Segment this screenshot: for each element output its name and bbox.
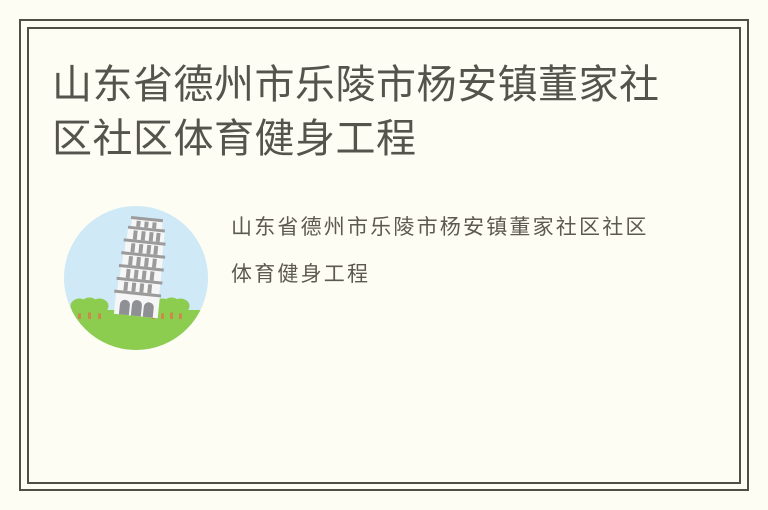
- media-row: 山东省德州市乐陵市杨安镇董家社区社区体育健身工程: [64, 204, 684, 356]
- certificate-card: 山东省德州市乐陵市杨安镇董家社区社区体育健身工程: [0, 0, 768, 510]
- thumbnail-caption: 山东省德州市乐陵市杨安镇董家社区社区体育健身工程: [231, 204, 661, 298]
- leaning-tower-of-pisa-illustration: [64, 206, 208, 350]
- thumbnail-image: [64, 206, 208, 350]
- card-content: 山东省德州市乐陵市杨安镇董家社区社区体育健身工程: [0, 0, 768, 510]
- page-title: 山东省德州市乐陵市杨安镇董家社区社区体育健身工程: [52, 58, 672, 166]
